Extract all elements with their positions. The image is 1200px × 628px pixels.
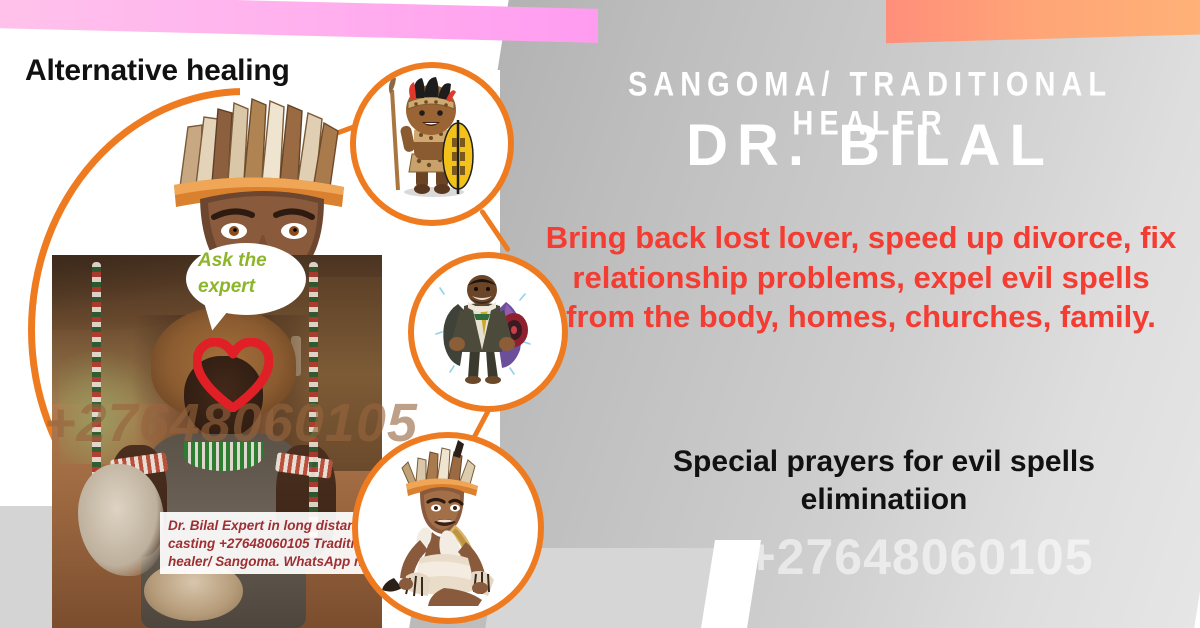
circle-badge-kneeling-sangoma — [352, 432, 544, 624]
heart-icon — [193, 338, 273, 412]
poster-canvas: Alternative healing — [0, 0, 1200, 628]
panel-phone-watermark: +27648060105 — [640, 528, 1200, 586]
pink-accent-bar — [0, 0, 598, 43]
services-text: Bring back lost lover, speed up divorce,… — [536, 218, 1186, 337]
circle-badge-zulu-warrior — [350, 62, 514, 226]
prayers-text: Special prayers for evil spells eliminat… — [604, 443, 1164, 518]
page-title: Alternative healing — [25, 54, 290, 88]
healer-name: DR. BILAL — [560, 112, 1180, 179]
speech-bubble-label: Ask the expert — [198, 248, 308, 299]
